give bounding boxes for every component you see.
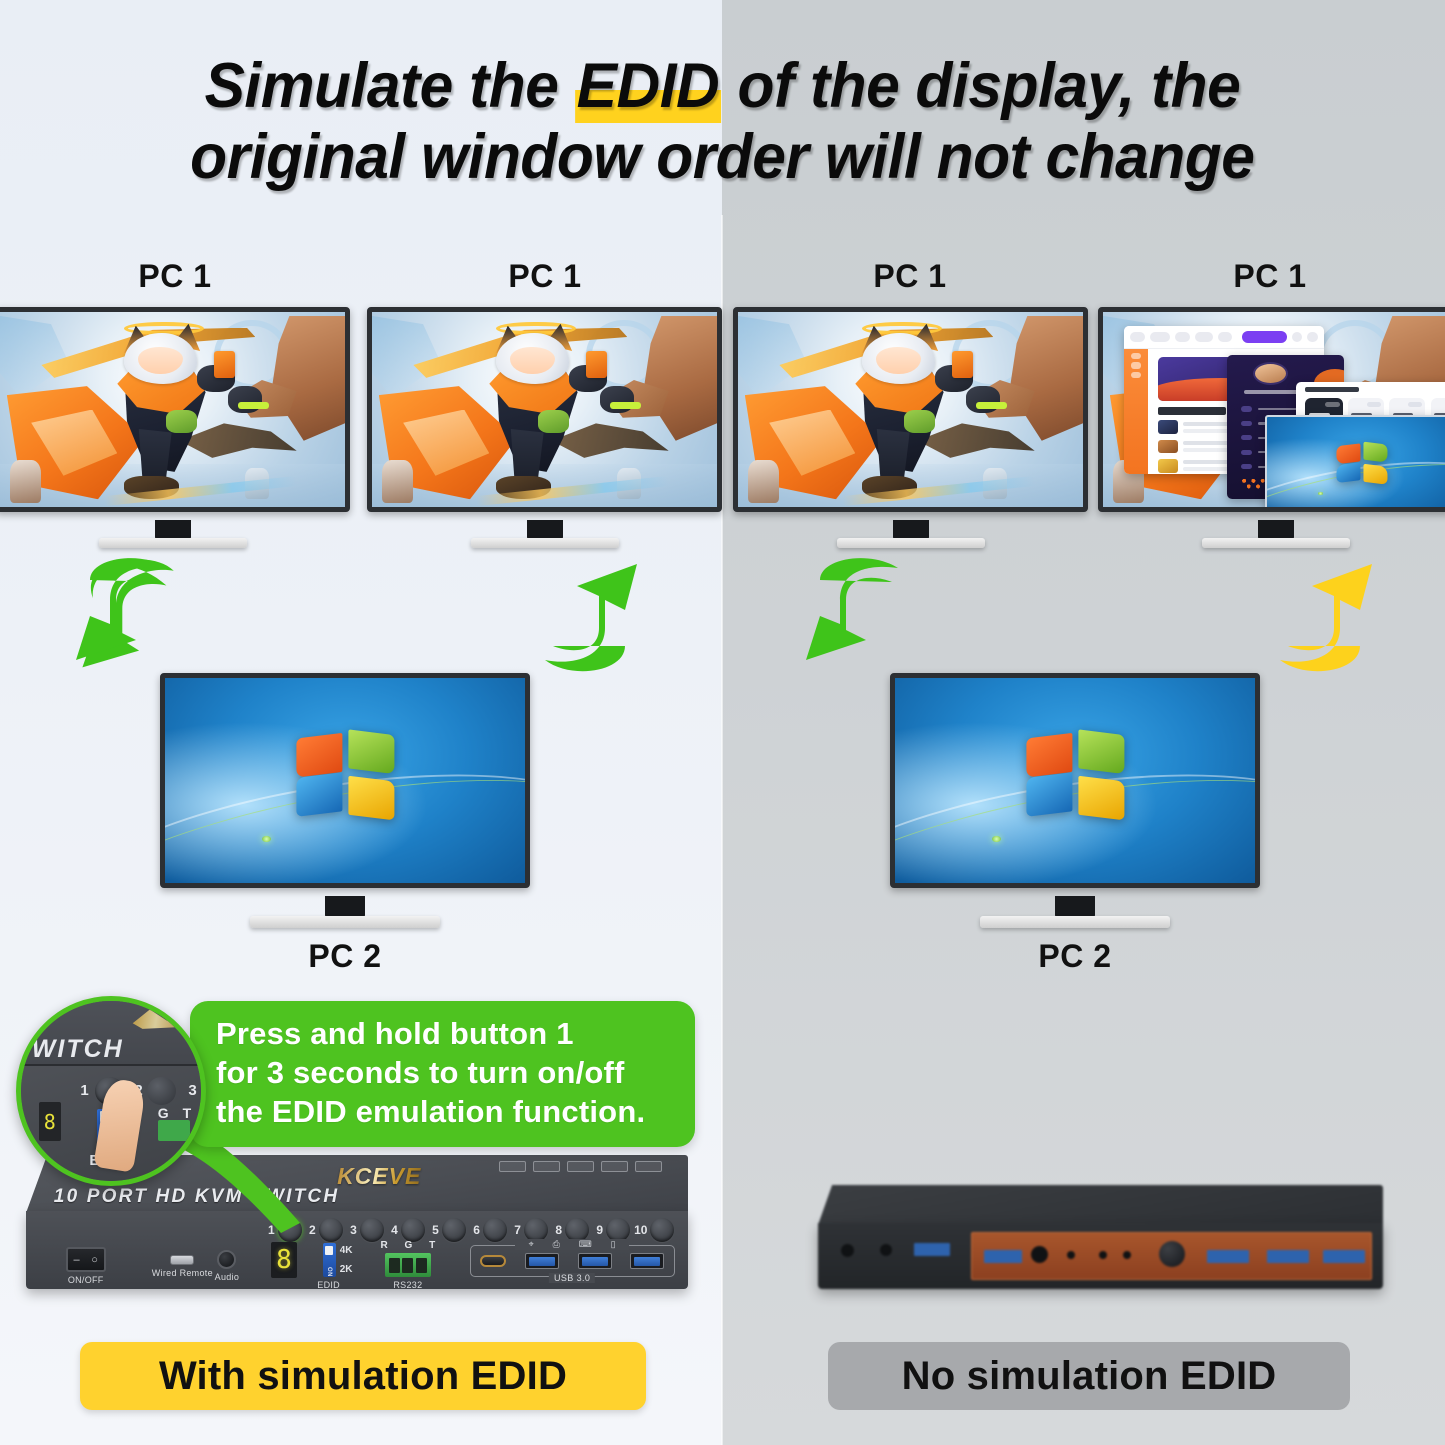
monitor-neck [1258, 520, 1294, 540]
magnifier-button-number-3: 3 [188, 1082, 196, 1099]
generic-kvm-device [818, 1185, 1383, 1295]
monitor-left-top-2 [367, 307, 722, 512]
game-artwork [372, 312, 717, 507]
rs232-connector-icon [385, 1253, 431, 1277]
usb-port-icon [984, 1250, 1022, 1263]
magnifier-switch-text: WITCH [32, 1035, 124, 1064]
usb-port-group: ⌖ ⎙ ⌨ ▯ USB 3.0 [470, 1245, 675, 1277]
round-port-icon [1031, 1246, 1048, 1263]
monitor-base [1202, 538, 1350, 548]
magnifier-rs232-pins: G T [158, 1105, 196, 1121]
monitor-screen [1103, 312, 1445, 507]
monitor-base [250, 916, 440, 928]
monitor-label-right-3: PC 2 [890, 938, 1260, 975]
usb-a-port[interactable] [630, 1253, 664, 1269]
usb-a-port[interactable] [578, 1253, 612, 1269]
port-button-label: 9 [596, 1223, 603, 1237]
headline-text-before: Simulate the [205, 51, 575, 121]
edid-2k-label: 2K [340, 1264, 353, 1275]
generic-device-io-panel [971, 1232, 1372, 1280]
drive-icon: ▯ [611, 1239, 616, 1250]
badge-no-simulation-edid: No simulation EDID [828, 1342, 1350, 1410]
headline-text-after: of the display, the [721, 51, 1240, 121]
rs232-terminal[interactable]: R G T RS232 [374, 1240, 443, 1290]
monitor-screen [738, 312, 1083, 507]
monitor-label-left-2: PC 1 [370, 258, 720, 295]
selector-knob-icon [1159, 1241, 1185, 1267]
monitor-screen [895, 678, 1255, 883]
arrow-up-left-yellow-right [1240, 548, 1380, 680]
usb-port-icon [1323, 1250, 1365, 1263]
port-button-label: 8 [555, 1223, 562, 1237]
monitor-neck [527, 520, 563, 540]
scattered-windows [1103, 312, 1445, 507]
micro-usb-icon [170, 1255, 194, 1265]
monitor-base [837, 538, 985, 548]
monitor-bezel [160, 673, 530, 888]
cert-badge-icon [499, 1161, 526, 1172]
cert-badge-icon [601, 1161, 628, 1172]
usb-port-icon [1267, 1250, 1309, 1263]
wired-remote-label: Wired Remote [152, 1268, 213, 1278]
led-icon [1099, 1251, 1107, 1259]
segment-digit: 8 [271, 1242, 297, 1278]
power-switch-label: ON/OFF [68, 1275, 104, 1285]
monitor-bezel [367, 307, 722, 512]
windows-logo [1026, 733, 1123, 815]
port-button-5[interactable]: 5 [429, 1218, 470, 1242]
window-windows-desktop [1265, 415, 1445, 507]
monitor-right-bottom [890, 673, 1260, 888]
usb-port-icon [914, 1243, 950, 1256]
port-button-label: 10 [634, 1223, 647, 1237]
port-button-4[interactable]: 4 [387, 1218, 428, 1242]
port-button-10[interactable]: 10 [634, 1218, 675, 1242]
audio-jack-icon [880, 1244, 892, 1256]
port-button-6[interactable]: 6 [470, 1218, 511, 1242]
game-artwork [738, 312, 1083, 507]
monitor-bezel [0, 307, 350, 512]
seven-segment-display: 8 [271, 1242, 297, 1278]
edid-instruction-callout: Press and hold button 1 for 3 seconds to… [190, 1001, 695, 1147]
monitor-neck [155, 520, 191, 540]
headline: Simulate the EDID of the display, the or… [0, 32, 1445, 212]
usb-c-port[interactable] [480, 1255, 506, 1267]
magnifier-rs232-block [158, 1120, 190, 1142]
monitor-screen [0, 312, 345, 507]
windows-desktop [895, 678, 1255, 883]
port-button-3[interactable]: 3 [346, 1218, 387, 1242]
usb-group-label: USB 3.0 [549, 1273, 595, 1283]
power-switch[interactable]: –○ ON/OFF [66, 1247, 106, 1285]
headline-highlight-edid: EDID [575, 51, 721, 122]
monitor-screen [372, 312, 717, 507]
edid-4k-label: 4K [340, 1245, 353, 1256]
generic-device-top [818, 1185, 1383, 1225]
monitor-base [980, 916, 1170, 928]
magnifier-port-button-2[interactable] [147, 1077, 176, 1106]
seven-segment-display: 8 [39, 1102, 61, 1142]
arrow-down-right-green-right [800, 550, 940, 680]
wired-remote-port[interactable]: Wired Remote [152, 1255, 213, 1278]
generic-device-front-panel [818, 1223, 1383, 1289]
monitor-label-left-3: PC 2 [160, 938, 530, 975]
port-button-label: 4 [391, 1223, 398, 1237]
printer-icon: ⎙ [553, 1239, 560, 1250]
usb-a-port[interactable] [525, 1253, 559, 1269]
rs232-label: RS232 [393, 1280, 422, 1290]
port-button-label: 5 [432, 1223, 439, 1237]
usb-port-icon [1207, 1250, 1249, 1263]
monitor-left-top-1 [0, 307, 350, 512]
led-icon [1123, 1251, 1131, 1259]
monitor-bezel [1098, 307, 1445, 512]
cert-badge-icon [635, 1161, 662, 1172]
port-button-label: 7 [514, 1223, 521, 1237]
windows-logo [1336, 444, 1387, 483]
infographic-stage: Simulate the EDID of the display, the or… [0, 0, 1445, 1445]
certification-badges [499, 1161, 662, 1172]
monitor-neck [893, 520, 929, 540]
monitor-neck [1055, 896, 1095, 918]
audio-label: Audio [215, 1272, 240, 1282]
button-magnifier-inset: WITCH 8 1 2 3 4K 2K EDID G T [16, 996, 206, 1186]
headline-line-1: Simulate the EDID of the display, the [205, 51, 1241, 122]
monitor-label-right-1: PC 1 [735, 258, 1085, 295]
keyboard-icon: ⌨ [579, 1239, 592, 1250]
arrow-up-left-green-left [505, 548, 645, 680]
monitor-label-right-2: PC 1 [1095, 258, 1445, 295]
headline-line-2: original window order will not change [190, 122, 1254, 193]
audio-jack-icon [841, 1244, 854, 1257]
mouse-icon: ⌖ [529, 1239, 534, 1250]
edid-dip-switch[interactable]: ON 4K 2K EDID [317, 1243, 358, 1290]
usb-device-icons: ⌖ ⎙ ⌨ ▯ [515, 1239, 629, 1250]
windows-logo [296, 733, 393, 815]
port-button-label: 6 [473, 1223, 480, 1237]
game-artwork [0, 312, 345, 507]
monitor-right-top-2 [1098, 307, 1445, 512]
monitor-bezel [890, 673, 1260, 888]
led-icon [1067, 1251, 1075, 1259]
magnifier-content: WITCH 8 1 2 3 4K 2K EDID G T [21, 1001, 201, 1181]
monitor-base [471, 538, 619, 548]
dip-on-text: ON [326, 1267, 332, 1277]
audio-jack-port[interactable]: Audio [215, 1250, 240, 1282]
arrow-down-right-green-left [70, 550, 210, 680]
callout-line-1: Press and hold button 1 [216, 1015, 675, 1054]
monitor-base [99, 538, 247, 548]
badge-with-simulation-edid: With simulation EDID [80, 1342, 646, 1410]
edid-label: EDID [317, 1280, 340, 1290]
port-button-label: 3 [350, 1223, 357, 1237]
monitor-screen [165, 678, 525, 883]
dip-switch-icon[interactable]: ON [323, 1243, 336, 1277]
windows-desktop [165, 678, 525, 883]
monitor-label-left-1: PC 1 [0, 258, 350, 295]
magnifier-button-number-1: 1 [80, 1082, 88, 1099]
rs232-pin-labels: R G T [374, 1240, 443, 1251]
power-rocker-icon[interactable]: –○ [66, 1247, 106, 1272]
monitor-bezel [733, 307, 1088, 512]
callout-line-3: the EDID emulation function. [216, 1093, 675, 1132]
kvm-brand-logo: KCEVE [337, 1163, 421, 1190]
audio-jack-icon [217, 1250, 236, 1269]
cert-badge-icon [567, 1161, 594, 1172]
callout-line-2: for 3 seconds to turn on/off [216, 1054, 675, 1093]
monitor-neck [325, 896, 365, 918]
cert-badge-icon [533, 1161, 560, 1172]
monitor-left-bottom [160, 673, 530, 888]
monitor-right-top-1 [733, 307, 1088, 512]
